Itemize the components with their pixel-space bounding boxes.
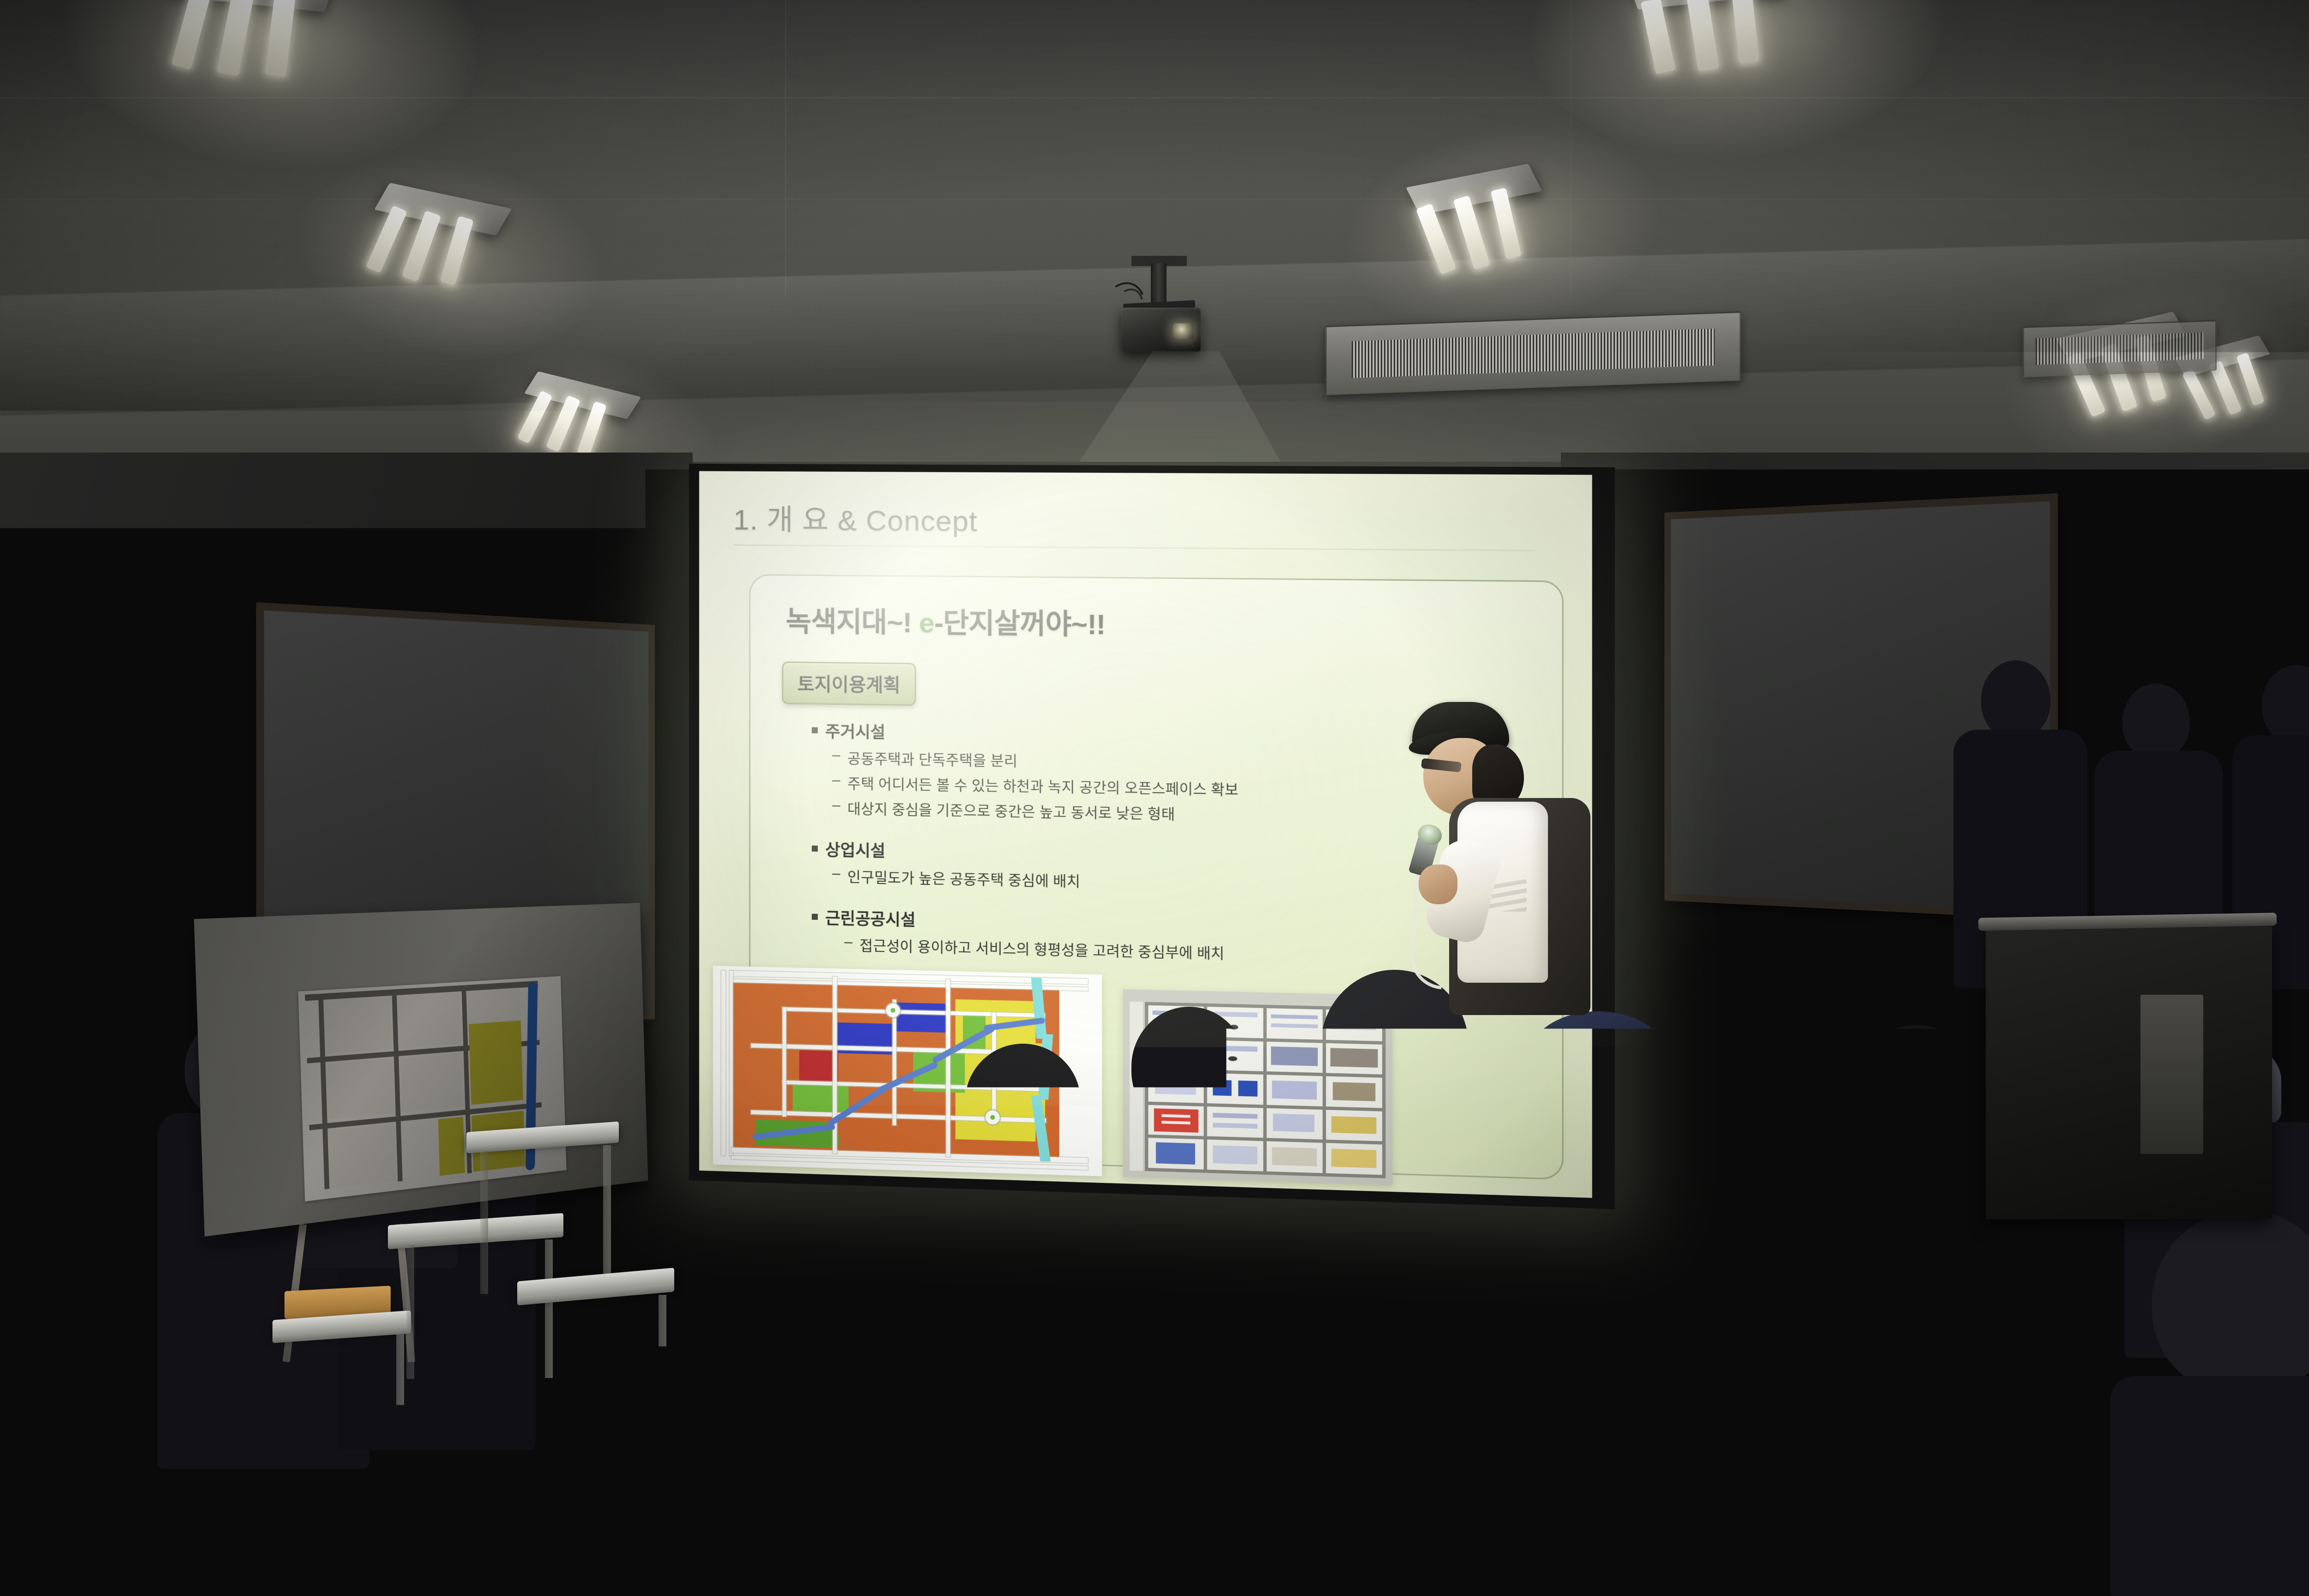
microphone-head xyxy=(1415,822,1444,848)
bullet-heading-label: 주거시설 xyxy=(825,719,885,743)
board-lot xyxy=(400,1053,463,1112)
seated-person xyxy=(0,1127,175,1596)
square-bullet-icon xyxy=(812,727,818,733)
fluorescent-tube xyxy=(1491,187,1522,260)
ac-vent-grille xyxy=(2036,332,2204,365)
roundabout-node xyxy=(886,1003,900,1017)
presenter xyxy=(1395,702,1653,1044)
ac-vent xyxy=(2023,320,2217,378)
person-body xyxy=(0,1233,175,1596)
road-vertical xyxy=(782,1007,786,1117)
square-bullet-icon xyxy=(812,846,818,852)
zone-apartment xyxy=(895,1003,947,1033)
person-head xyxy=(2122,683,2190,759)
person-head xyxy=(1113,1265,1288,1445)
ceiling-seam xyxy=(785,0,786,296)
presenter-hand xyxy=(1419,864,1457,904)
fluorescent-tube xyxy=(2236,352,2265,406)
fluorescent-tube xyxy=(1416,203,1457,275)
zone-green-space xyxy=(793,1084,849,1112)
person-head xyxy=(2262,665,2309,744)
board-lot xyxy=(328,1124,396,1189)
board-lot xyxy=(326,1058,394,1119)
fluorescent-tube xyxy=(1686,0,1719,72)
ceiling-seam xyxy=(0,199,2309,200)
dash-bullet-icon: – xyxy=(844,933,852,950)
bullet-heading-label: 상업시설 xyxy=(825,837,885,862)
bullet-heading-label: 근린공공시설 xyxy=(825,905,916,931)
bullet-item-label: 대상지 중심을 기준으로 중간은 높고 동서로 낮은 형태 xyxy=(847,797,1175,823)
fluorescent-tube xyxy=(2182,369,2216,420)
fluorescent-tube xyxy=(1731,0,1759,64)
bullet-item-label: 주택 어디서든 볼 수 있는 하천과 녹지 공간의 오픈스페이스 확보 xyxy=(847,772,1239,799)
ac-vent-grille xyxy=(1352,328,1715,378)
fluorescent-tube xyxy=(577,401,607,457)
fluorescent-tube xyxy=(265,0,296,77)
board-lot xyxy=(324,997,392,1054)
ceiling-projector xyxy=(1118,263,1210,365)
desk-leg xyxy=(1776,1444,1784,1578)
slide-title: 1. 개 요 & Concept xyxy=(733,496,1560,543)
dash-bullet-icon: – xyxy=(832,797,840,813)
board-lot-commercial xyxy=(438,1117,465,1176)
ceiling-seam xyxy=(0,97,2309,98)
projector-body xyxy=(1121,308,1201,352)
fluorescent-tube xyxy=(1453,195,1490,270)
slide-headline: 녹색지대~! e-단지살꺼야~!! xyxy=(786,599,1537,647)
fluorescent-tube xyxy=(440,216,473,286)
projector-mount-pole xyxy=(1151,263,1167,308)
desk-leg xyxy=(1194,1449,1202,1578)
dash-bullet-icon: – xyxy=(832,865,840,882)
bullet-item-label: 공동주택과 단독주택을 분리 xyxy=(847,747,1017,770)
person-head xyxy=(2152,1210,2309,1395)
person-head xyxy=(965,1044,1081,1159)
square-bullet-icon xyxy=(812,914,818,920)
fluorescent-tube xyxy=(366,205,407,273)
headline-suffix: -단지살꺼야~!! xyxy=(934,607,1106,640)
fluorescent-tube xyxy=(217,0,254,76)
student-desk xyxy=(1626,1164,1792,1284)
headline-e-accent: e xyxy=(919,607,934,639)
desk-leg xyxy=(406,1245,414,1379)
desk-leg xyxy=(603,1145,611,1293)
landuse-plan-badge: 토지이용계획 xyxy=(782,661,916,706)
board-lot-commercial xyxy=(469,1021,523,1105)
lectern-front-panel xyxy=(2140,995,2203,1155)
fluorescent-tube xyxy=(546,395,580,452)
dash-bullet-icon: – xyxy=(832,772,840,788)
fluorescent-tube xyxy=(517,390,553,444)
fluorescent-tube xyxy=(402,210,441,282)
lecture-hall-scene: 1. 개 요 & Concept 녹색지대~! e-단지살꺼야~!! 토지이용계… xyxy=(0,0,2309,1596)
desk-leg xyxy=(659,1295,666,1433)
board-lot xyxy=(398,992,461,1048)
person-head xyxy=(1981,660,2050,739)
headline-prefix: 녹색지대~! xyxy=(786,606,919,638)
student-desk xyxy=(1589,1422,1847,1596)
road-vertical xyxy=(893,1000,896,1125)
person-body xyxy=(2110,1376,2309,1596)
student-desk xyxy=(517,1275,739,1459)
seated-person xyxy=(2115,1210,2309,1596)
dash-bullet-icon: – xyxy=(832,747,840,763)
projector-lens xyxy=(1173,323,1193,339)
student-desk xyxy=(1016,1427,1275,1596)
bullet-item-label: 인구밀도가 높은 공동주택 중심에 배치 xyxy=(847,865,1080,891)
desk-leg xyxy=(480,1151,488,1294)
fluorescent-tube xyxy=(171,0,211,70)
person-head xyxy=(0,891,88,984)
slide-title-rule xyxy=(733,544,1535,551)
fluorescent-tube xyxy=(1641,0,1676,74)
ac-vent xyxy=(1325,311,1741,395)
lectern xyxy=(1986,924,2272,1219)
